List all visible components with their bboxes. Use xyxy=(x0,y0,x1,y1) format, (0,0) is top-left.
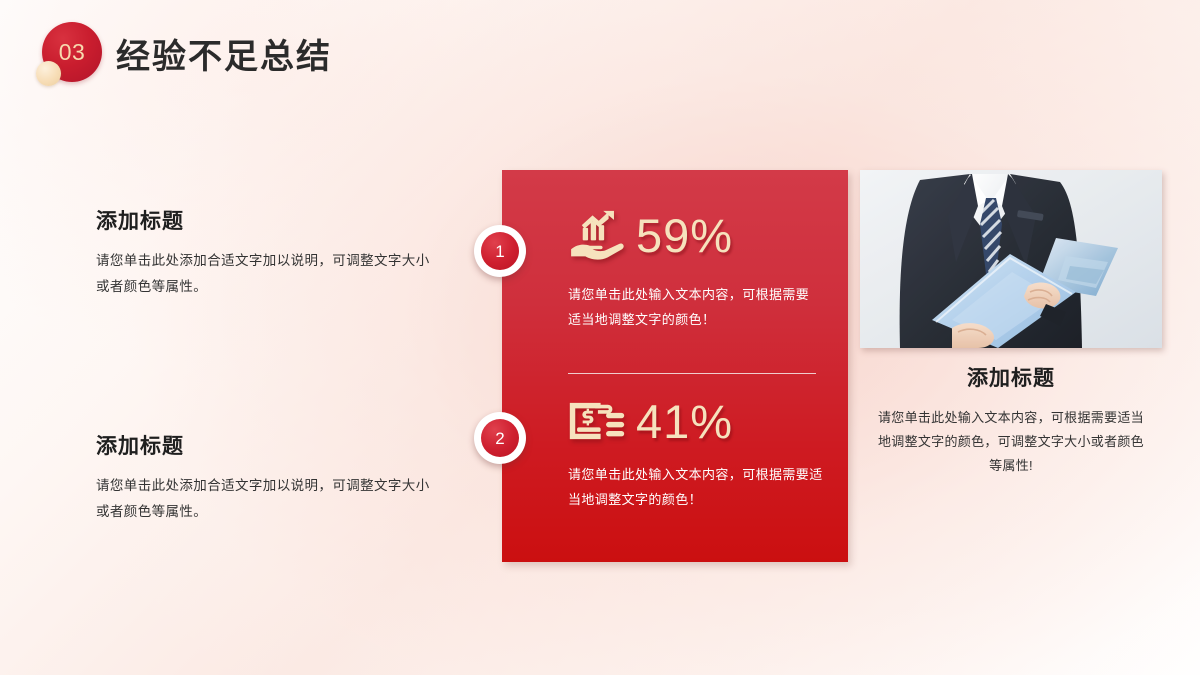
left-block-1-title: 添加标题 xyxy=(96,205,436,235)
statistic-marker-1: 1 xyxy=(474,225,526,277)
right-caption-title: 添加标题 xyxy=(860,362,1162,392)
left-block-2-body: 请您单击此处添加合适文字加以说明，可调整文字大小或者颜色等属性。 xyxy=(96,473,436,525)
statistic-marker-2: 2 xyxy=(474,412,526,464)
page-title: 经验不足总结 xyxy=(116,29,332,78)
section-number-badge: 03 xyxy=(36,22,102,88)
left-block-1-body: 请您单击此处添加合适文字加以说明，可调整文字大小或者颜色等属性。 xyxy=(96,248,436,300)
statistic-marker-1-number: 1 xyxy=(481,232,519,270)
money-check-dollar-icon xyxy=(568,396,626,446)
section-number: 03 xyxy=(42,22,102,82)
statistic-1-headline: 59% xyxy=(502,202,848,268)
left-feature-block-2: 添加标题 请您单击此处添加合适文字加以说明，可调整文字大小或者颜色等属性。 xyxy=(96,430,436,525)
left-block-2-title: 添加标题 xyxy=(96,430,436,460)
statistic-1-percent: 59% xyxy=(636,212,733,259)
hand-holding-bar-chart-icon xyxy=(568,210,626,260)
statistic-2-percent: 41% xyxy=(636,398,733,445)
statistic-2-description: 请您单击此处输入文本内容，可根据需要适当地调整文字的颜色！ xyxy=(502,462,848,512)
statistic-item-2: 41% 请您单击此处输入文本内容，可根据需要适当地调整文字的颜色！ xyxy=(502,388,848,512)
statistic-marker-2-number: 2 xyxy=(481,419,519,457)
stats-divider xyxy=(568,373,816,374)
right-caption-block: 添加标题 请您单击此处输入文本内容，可根据需要适当地调整文字的颜色，可调整文字大… xyxy=(860,362,1162,478)
left-feature-block-1: 添加标题 请您单击此处添加合适文字加以说明，可调整文字大小或者颜色等属性。 xyxy=(96,205,436,300)
businessman-holding-blue-folder-photo xyxy=(860,170,1162,348)
statistics-panel: 59% 请您单击此处输入文本内容，可根据需要适当地调整文字的颜色！ xyxy=(502,170,848,562)
right-caption-body: 请您单击此处输入文本内容，可根据需要适当地调整文字的颜色，可调整文字大小或者颜色… xyxy=(860,406,1162,478)
statistic-2-headline: 41% xyxy=(502,388,848,454)
statistic-item-1: 59% 请您单击此处输入文本内容，可根据需要适当地调整文字的颜色！ xyxy=(502,202,848,332)
slide-canvas: 03 经验不足总结 添加标题 请您单击此处添加合适文字加以说明，可调整文字大小或… xyxy=(0,0,1200,675)
statistic-1-description: 请您单击此处输入文本内容，可根据需要适当地调整文字的颜色！ xyxy=(502,282,848,332)
